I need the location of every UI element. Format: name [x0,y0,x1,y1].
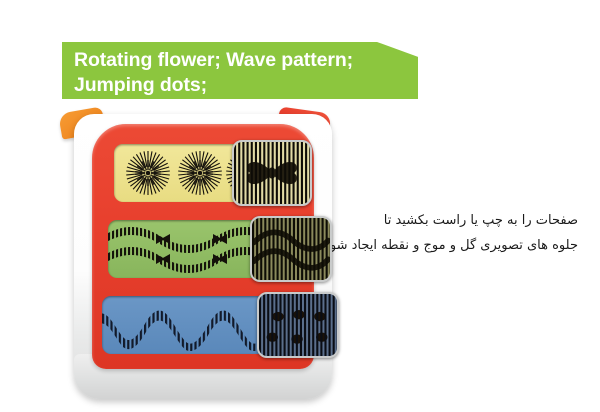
butterfly-moire-graphic [234,142,310,204]
double-wave-moire-graphic [252,218,330,280]
lens-wave-pattern[interactable] [250,216,332,282]
lens-jumping-dots[interactable] [257,292,339,358]
toy-faceplate [92,124,314,369]
slide-canvas: Rotating flower; Wave pattern; Jumping d… [0,0,600,412]
persian-caption: صفحات را به چپ یا راست بکشید تا جلوه های… [350,208,578,258]
caption-line-1: صفحات را به چپ یا راست بکشید تا [350,208,578,233]
caption-line-2: جلوه های تصویری گل و موج و نقطه ایجاد شو… [350,233,578,258]
lens-rotating-flower[interactable] [232,140,312,206]
toy-illustration [60,104,355,404]
banner-line-1: Rotating flower; Wave pattern; [74,48,418,73]
banner-line-2: Jumping dots; [74,73,418,98]
six-dots-moire-graphic [259,294,337,356]
title-banner: Rotating flower; Wave pattern; Jumping d… [62,42,418,99]
